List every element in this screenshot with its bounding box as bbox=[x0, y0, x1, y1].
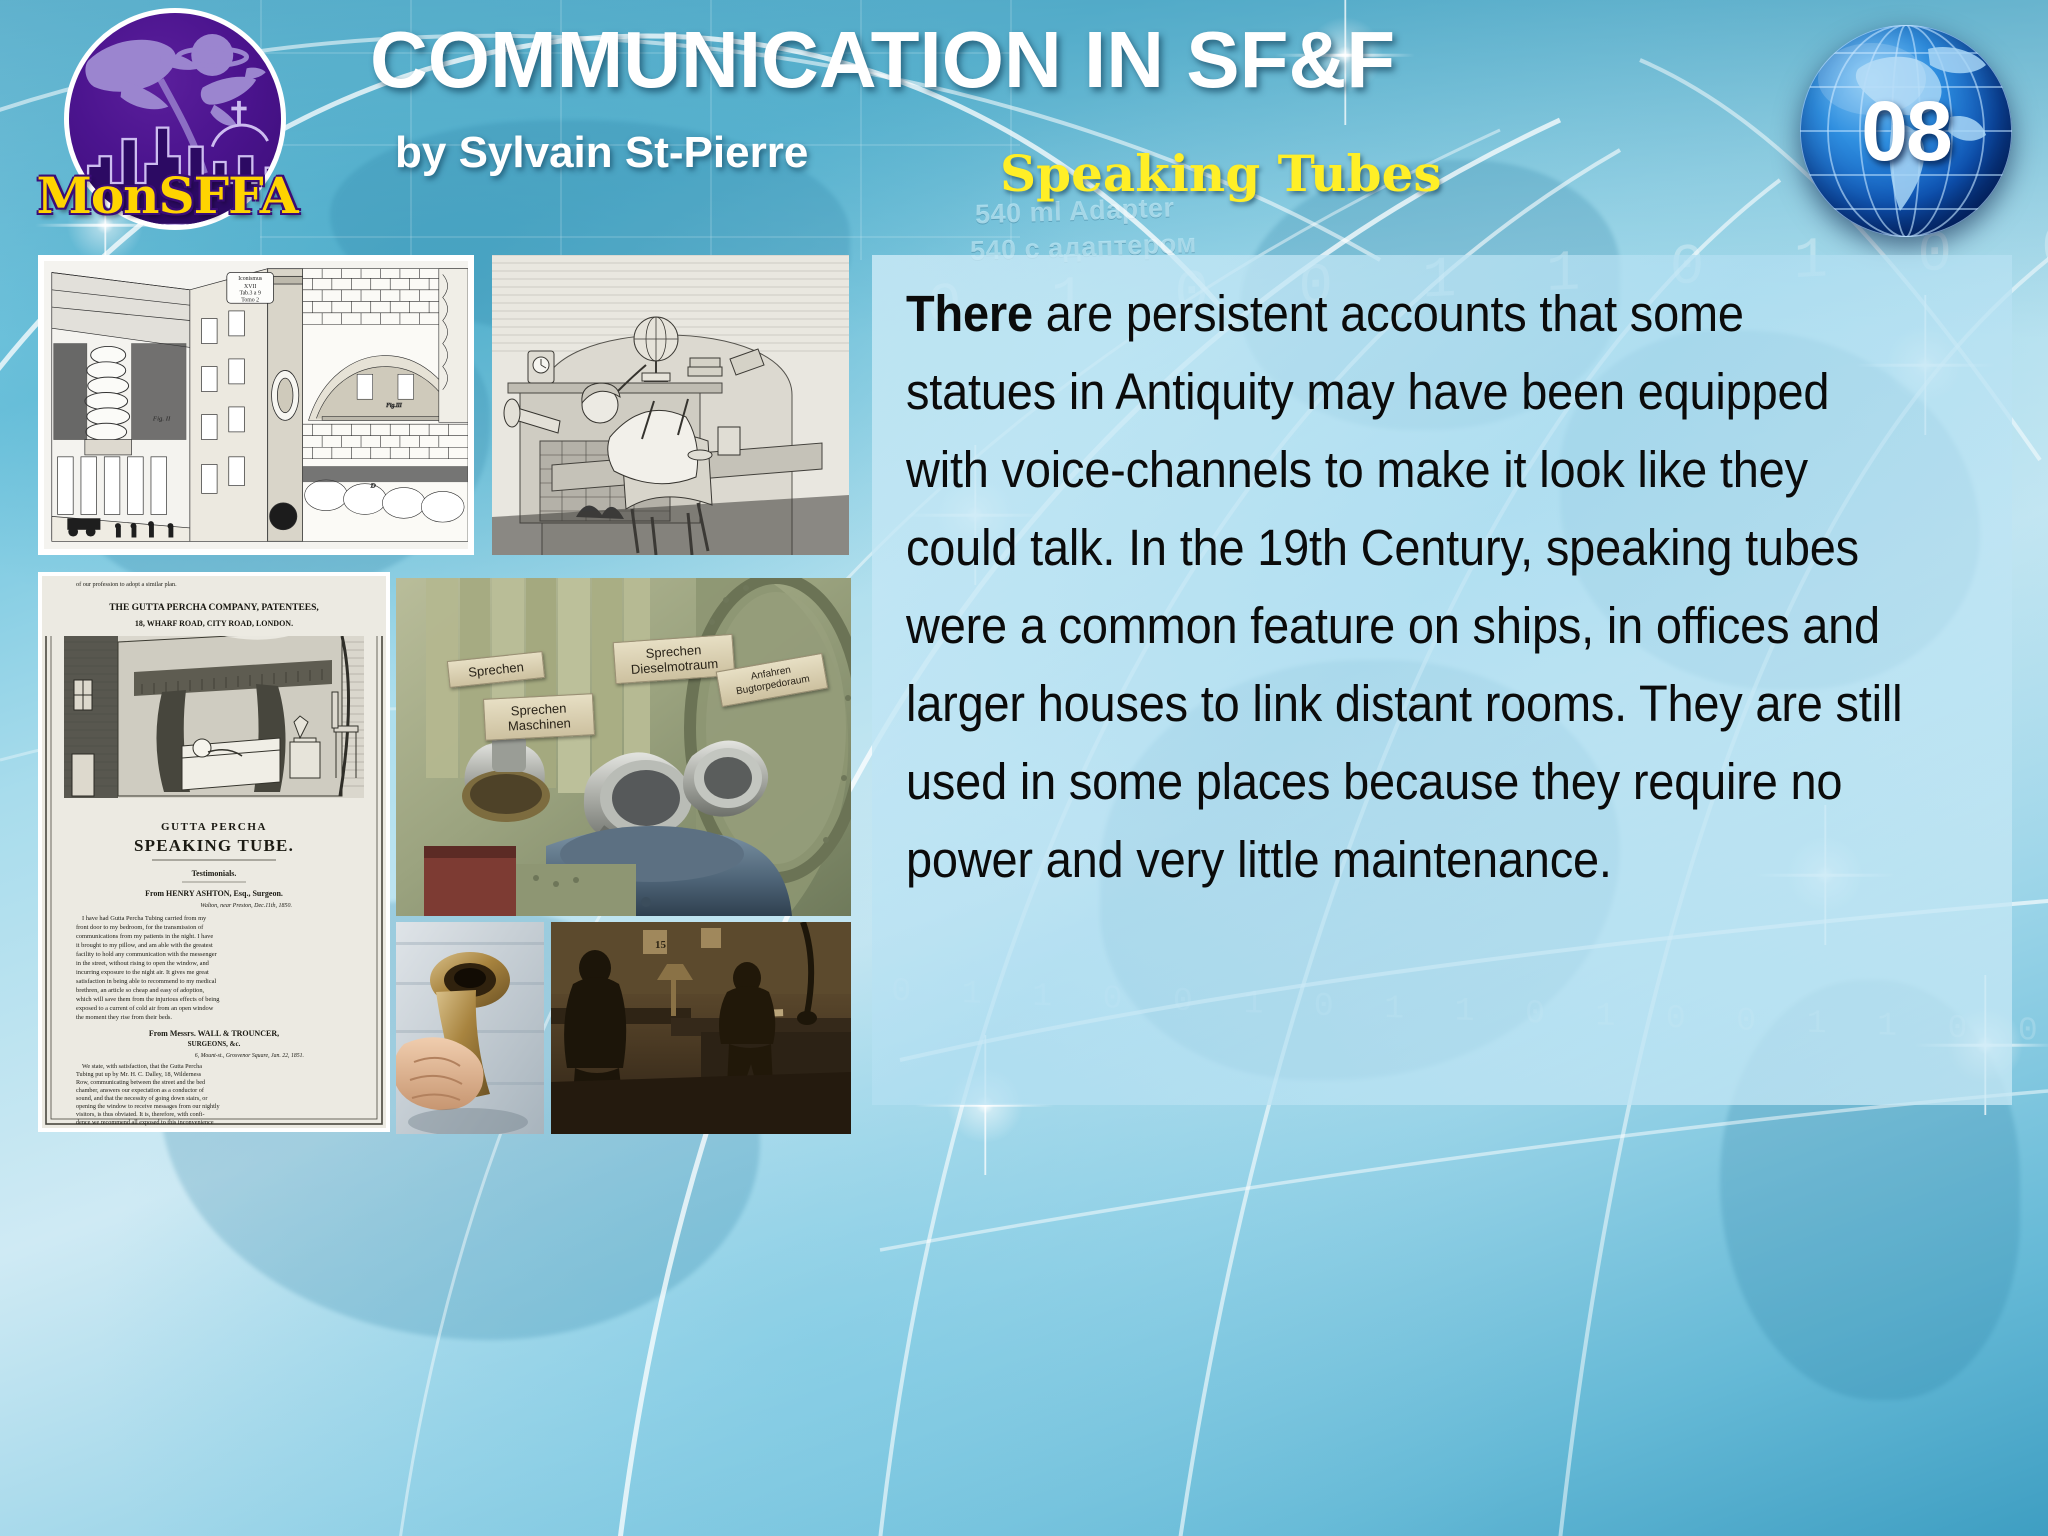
svg-text:Testimonials.: Testimonials. bbox=[192, 869, 237, 878]
rocket-icon bbox=[85, 40, 198, 110]
globe-badge: 08 bbox=[1800, 25, 2012, 237]
svg-text:chamber, answers our expectati: chamber, answers our expectation as a co… bbox=[76, 1087, 205, 1094]
body-text: There are persistent accounts that some … bbox=[906, 275, 1905, 899]
svg-text:Tubing put up by Mr. H. C. Dal: Tubing put up by Mr. H. C. Dalley, 18, W… bbox=[76, 1071, 202, 1078]
svg-text:Fig.III: Fig.III bbox=[385, 403, 402, 409]
svg-text:Tomo 2: Tomo 2 bbox=[241, 297, 259, 303]
svg-text:brethren, an article so cheap: brethren, an article so cheap and easy o… bbox=[76, 987, 205, 994]
logo-wordmark-text: MonSFFA bbox=[36, 166, 297, 225]
svg-text:visitors, is thus obviated. I: visitors, is thus obviated. It is, there… bbox=[76, 1111, 205, 1118]
svg-text:front door to my bedroom, for: front door to my bedroom, for the transm… bbox=[76, 924, 204, 931]
plate-text-line2: Maschinen bbox=[508, 715, 572, 733]
victorian-office-image[interactable]: 15 bbox=[551, 922, 851, 1134]
plate-text: Sprechen bbox=[468, 659, 525, 680]
submarine-speaking-tubes-image[interactable]: Sprechen Sprechen Maschinen Sprechen Die… bbox=[396, 578, 851, 916]
victorian-study-image[interactable] bbox=[492, 255, 849, 555]
svg-text:6, Mount-st., Grosvenor Square: 6, Mount-st., Grosvenor Square, Jan. 22,… bbox=[195, 1053, 304, 1059]
svg-text:Iconismus: Iconismus bbox=[238, 276, 263, 282]
svg-text:sound, and that the necessity: sound, and that the necessity of going d… bbox=[76, 1095, 207, 1102]
author-byline: by Sylvain St-Pierre bbox=[395, 128, 808, 178]
svg-text:communications from my patient: communications from my patients in the n… bbox=[76, 933, 213, 940]
svg-text:which will save them from the: which will save them from the injurious … bbox=[76, 996, 220, 1003]
logo-wordmark: MonSFFA bbox=[22, 166, 312, 225]
svg-text:of our profession to adopt a s: of our profession to adopt a similar pla… bbox=[76, 581, 177, 588]
svg-text:SURGEONS, &c.: SURGEONS, &c. bbox=[188, 1040, 241, 1048]
svg-text:satisfaction in being able to: satisfaction in being able to recommend … bbox=[76, 978, 216, 985]
svg-text:facility to hold any communica: facility to hold any communication with … bbox=[76, 951, 218, 958]
svg-text:From HENRY ASHTON, Esq., Surge: From HENRY ASHTON, Esq., Surgeon. bbox=[145, 889, 283, 898]
svg-text:Tab.3 a 9: Tab.3 a 9 bbox=[239, 291, 261, 297]
svg-text:Row, communicating between the: Row, communicating between the street an… bbox=[76, 1079, 206, 1086]
svg-text:XVII: XVII bbox=[244, 284, 256, 290]
svg-text:Fig. II: Fig. II bbox=[152, 415, 171, 422]
page-title: COMMUNICATION IN SF&F bbox=[370, 14, 1395, 106]
svg-text:Walton, near Preston, Dec.11th: Walton, near Preston, Dec.11th, 1850. bbox=[200, 903, 292, 909]
svg-text:GUTTA PERCHA: GUTTA PERCHA bbox=[161, 821, 267, 833]
svg-text:in the street, without rising: in the street, without rising to open th… bbox=[76, 960, 210, 967]
slide-root: 0 1 0 0 1 1 0 1 0 0 1 1 1 0 0 1 0 1 1 0 … bbox=[0, 0, 2048, 1536]
monsffa-logo[interactable]: MonSFFA bbox=[22, 8, 312, 238]
brass-mouthpiece-image[interactable] bbox=[396, 922, 544, 1134]
body-text-lead: There bbox=[906, 285, 1033, 342]
gutta-percha-advertisement-image[interactable]: Medical Man’s Midnight Friend. bbox=[38, 572, 390, 1132]
body-text-rest: are persistent accounts that some statue… bbox=[906, 285, 1902, 888]
plate-text-line2: Dieselmotraum bbox=[630, 656, 718, 677]
svg-text:D: D bbox=[370, 483, 376, 490]
svg-text:From Messrs. WALL & TROUNCER,: From Messrs. WALL & TROUNCER, bbox=[149, 1029, 279, 1038]
svg-text:THE GUTTA PERCHA COMPANY, PATE: THE GUTTA PERCHA COMPANY, PATENTEES, bbox=[109, 603, 319, 613]
svg-text:dence we recommend all exposed: dence we recommend all exposed to this i… bbox=[76, 1119, 214, 1126]
svg-text:exposed to a current of cold a: exposed to a current of cold air from an… bbox=[76, 1005, 214, 1012]
slide-subtitle: Speaking Tubes bbox=[1000, 144, 1442, 203]
label-plate-sprechen-maschinen: Sprechen Maschinen bbox=[483, 693, 595, 741]
slide-header: MonSFFA COMMUNICATION IN SF&F by Sylvain… bbox=[0, 0, 2048, 250]
svg-text:incurring exposure to the nigh: incurring exposure to the night air. It … bbox=[76, 969, 209, 976]
kircher-engraving-image[interactable]: Iconismus XVII Tab.3 a 9 Tomo 2 bbox=[38, 255, 474, 555]
svg-text:the moment they rise from thei: the moment they rise from their beds. bbox=[76, 1014, 172, 1021]
svg-text:opening the window to receive: opening the window to receive messages f… bbox=[76, 1103, 221, 1110]
svg-text:15: 15 bbox=[655, 939, 667, 951]
svg-text:We state, with satisfaction, t: We state, with satisfaction, that the Gu… bbox=[82, 1063, 202, 1070]
slide-number: 08 bbox=[1800, 25, 2012, 237]
svg-text:it brought to my pillow, and a: it brought to my pillow, and am able wit… bbox=[76, 942, 213, 949]
svg-text:SPEAKING TUBE.: SPEAKING TUBE. bbox=[134, 836, 294, 855]
svg-text:I have had Gutta Percha Tubing: I have had Gutta Percha Tubing carried f… bbox=[82, 915, 207, 922]
rocket-small-icon bbox=[201, 68, 266, 126]
svg-text:18, WHARF ROAD, CITY ROAD, LON: 18, WHARF ROAD, CITY ROAD, LONDON. bbox=[135, 619, 293, 628]
